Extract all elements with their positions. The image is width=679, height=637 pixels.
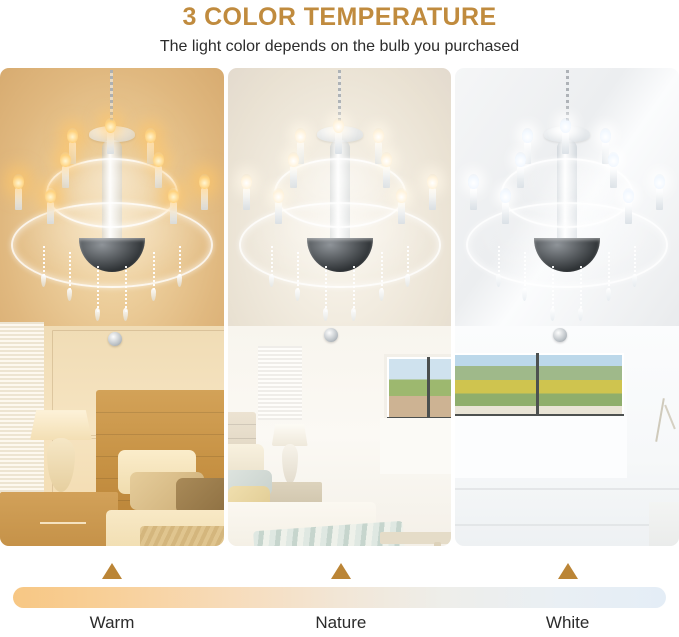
candle-lamp [62, 166, 69, 188]
nightstand-drawer-handle [40, 522, 86, 524]
table-lamp-base [282, 444, 298, 484]
panel-white[interactable] [455, 68, 679, 546]
candle-lamp [429, 188, 436, 210]
window-glass [389, 359, 452, 419]
bulb-glow [60, 152, 71, 167]
candle-lamp [15, 188, 22, 210]
bulb-glow [288, 152, 299, 167]
candle-lamp [201, 188, 208, 210]
window-lower-wall [380, 418, 452, 474]
bulb-glow [608, 152, 619, 167]
bulb-glow [67, 128, 78, 143]
chandelier-nature [235, 70, 445, 320]
marker-warm [102, 563, 122, 579]
marker-nature [331, 563, 351, 579]
bulb-glow [468, 174, 479, 189]
scale-labels: Warm Nature White [0, 612, 679, 637]
scale-markers [0, 556, 679, 584]
bed-throw [140, 526, 224, 546]
chandelier-warm [7, 70, 217, 320]
candle-lamp [107, 132, 114, 154]
marker-white [558, 563, 578, 579]
ceiling-detector-icon [324, 328, 338, 342]
bulb-glow [333, 118, 344, 133]
bulb-glow [153, 152, 164, 167]
bulb-glow [381, 152, 392, 167]
panel-warm[interactable] [0, 68, 224, 546]
page-subtitle: The light color depends on the bulb you … [0, 36, 679, 58]
bulb-glow [373, 128, 384, 143]
candle-lamp [243, 188, 250, 210]
room-white [455, 326, 679, 546]
candle-lamp [656, 188, 663, 210]
candle-lamp [155, 166, 162, 188]
decor-branch [664, 405, 676, 430]
candle-lamp [398, 202, 405, 224]
bulb-glow [199, 174, 210, 189]
candle-lamp [610, 166, 617, 188]
table-lamp-shade [272, 424, 308, 446]
wall-trim [455, 524, 679, 526]
bulb-glow [560, 118, 571, 133]
bulb-glow [654, 174, 665, 189]
scale-label-nature: Nature [315, 612, 366, 634]
bedroom-nature [228, 326, 452, 546]
bulb-glow [623, 188, 634, 203]
bulb-glow [145, 128, 156, 143]
candle-lamp [47, 202, 54, 224]
bench-leg [434, 542, 441, 546]
candle-lamp [383, 166, 390, 188]
window-mullion [536, 353, 539, 419]
temperature-gradient-bar [13, 587, 666, 608]
ceiling-detector-icon [553, 328, 567, 342]
ceiling-detector-icon [108, 332, 122, 346]
scene-white [455, 68, 679, 546]
bulb-glow [45, 188, 56, 203]
bulb-glow [241, 174, 252, 189]
baseboard-unit [649, 502, 679, 546]
scene-warm [0, 68, 224, 546]
scale-label-warm: Warm [90, 612, 135, 634]
bulb-glow [273, 188, 284, 203]
window [455, 350, 627, 422]
window-mullion [427, 357, 430, 421]
bulb-glow [522, 128, 533, 143]
candle-lamp [170, 202, 177, 224]
header: 3 COLOR TEMPERATURE The light color depe… [0, 0, 679, 58]
bulb-glow [13, 174, 24, 189]
bulb-glow [427, 174, 438, 189]
bulb-glow [105, 118, 116, 133]
panel-nature[interactable] [228, 68, 452, 546]
table-lamp-shade [30, 410, 92, 440]
bulb-glow [396, 188, 407, 203]
scale-label-white: White [546, 612, 589, 634]
wall-trim [455, 488, 679, 490]
bulb-glow [600, 128, 611, 143]
nightstand [0, 492, 118, 546]
bulb-glow [500, 188, 511, 203]
color-temperature-scale: Warm Nature White [0, 556, 679, 637]
candle-lamp [625, 202, 632, 224]
candle-lamp [502, 202, 509, 224]
page-title: 3 COLOR TEMPERATURE [0, 2, 679, 32]
candle-lamp [517, 166, 524, 188]
bulb-glow [168, 188, 179, 203]
scene-nature [228, 68, 452, 546]
candle-lamp [562, 132, 569, 154]
bedroom-warm [0, 326, 224, 546]
bulb-glow [295, 128, 306, 143]
candle-lamp [335, 132, 342, 154]
pillow [176, 478, 224, 514]
candle-lamp [470, 188, 477, 210]
window-lower-wall [455, 416, 627, 478]
window [384, 354, 452, 424]
bulb-glow [515, 152, 526, 167]
window-shade [258, 346, 302, 420]
color-temperature-panels [0, 68, 679, 546]
candle-lamp [275, 202, 282, 224]
candle-lamp [290, 166, 297, 188]
chandelier-white [462, 70, 672, 320]
